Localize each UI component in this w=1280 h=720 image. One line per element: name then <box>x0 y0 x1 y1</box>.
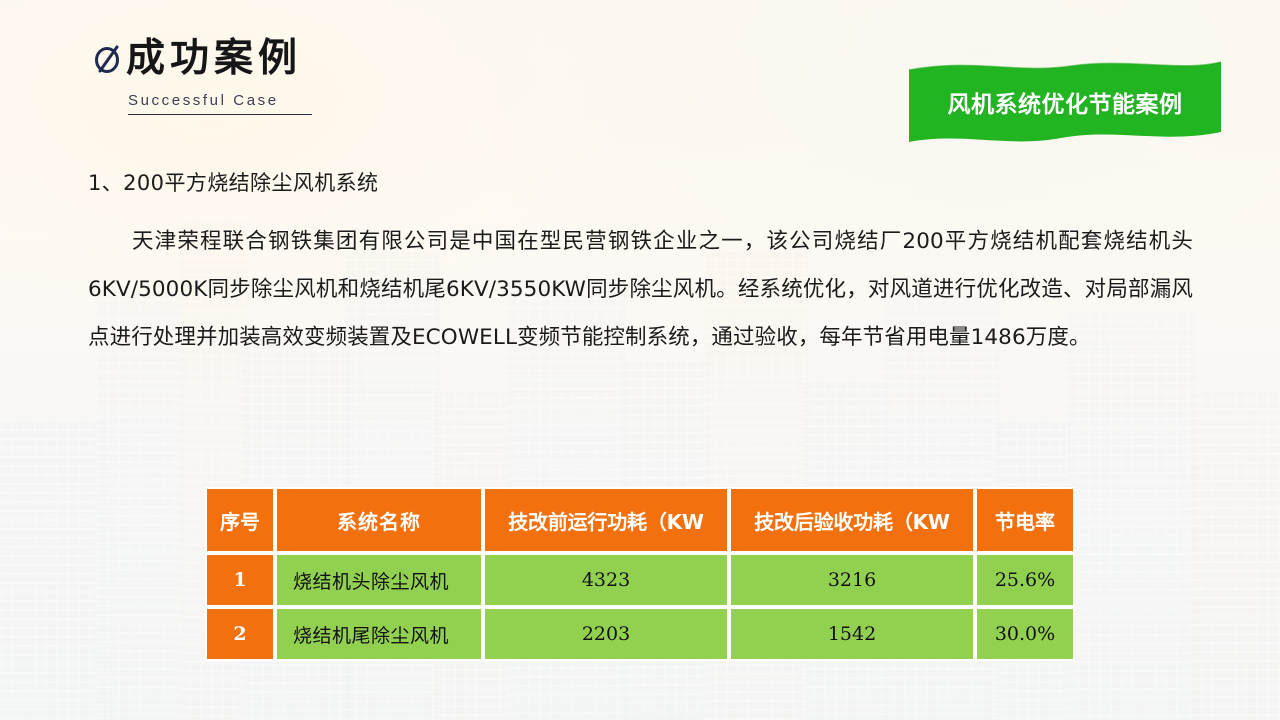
ribbon-banner: 风机系统优化节能案例 <box>905 58 1225 146</box>
cell-name: 烧结机头除尘风机 <box>275 553 483 607</box>
table-col-index: 序号 <box>205 487 275 553</box>
section-heading: 1、200平方烧结除尘风机系统 <box>88 168 1193 198</box>
table-col-system-name: 系统名称 <box>275 487 483 553</box>
cell-power-before: 4323 <box>483 553 729 607</box>
table-header-row: 序号 系统名称 技改前运行功耗（KW 技改后验收功耗（KW 节电率 <box>205 487 1075 553</box>
table-row: 2 烧结机尾除尘风机 2203 1542 30.0% <box>205 607 1075 661</box>
cell-index: 2 <box>205 607 275 661</box>
results-table: 序号 系统名称 技改前运行功耗（KW 技改后验收功耗（KW 节电率 1 烧结机头… <box>205 487 1075 661</box>
table-col-power-before: 技改前运行功耗（KW <box>483 487 729 553</box>
cell-saving-rate: 25.6% <box>975 553 1075 607</box>
table-col-saving-rate: 节电率 <box>975 487 1075 553</box>
cell-index: 1 <box>205 553 275 607</box>
slide-root: 成功案例 Successful Case 风机系统优化节能案例 1、200平方烧… <box>0 0 1280 720</box>
cell-power-after: 1542 <box>729 607 975 661</box>
cell-power-before: 2203 <box>483 607 729 661</box>
table-row: 1 烧结机头除尘风机 4323 3216 25.6% <box>205 553 1075 607</box>
ribbon-label: 风机系统优化节能案例 <box>905 85 1225 119</box>
circle-slash-icon <box>92 42 122 76</box>
page-title: 成功案例 <box>126 38 302 81</box>
title-underline <box>128 114 312 115</box>
page-subtitle: Successful Case <box>128 92 422 109</box>
content-block: 1、200平方烧结除尘风机系统 天津荣程联合钢铁集团有限公司是中国在型民营钢铁企… <box>88 168 1193 362</box>
section-paragraph: 天津荣程联合钢铁集团有限公司是中国在型民营钢铁企业之一，该公司烧结厂200平方烧… <box>88 218 1193 362</box>
table-col-power-after: 技改后验收功耗（KW <box>729 487 975 553</box>
cell-name: 烧结机尾除尘风机 <box>275 607 483 661</box>
page-title-block: 成功案例 Successful Case <box>92 38 422 115</box>
cell-saving-rate: 30.0% <box>975 607 1075 661</box>
cell-power-after: 3216 <box>729 553 975 607</box>
